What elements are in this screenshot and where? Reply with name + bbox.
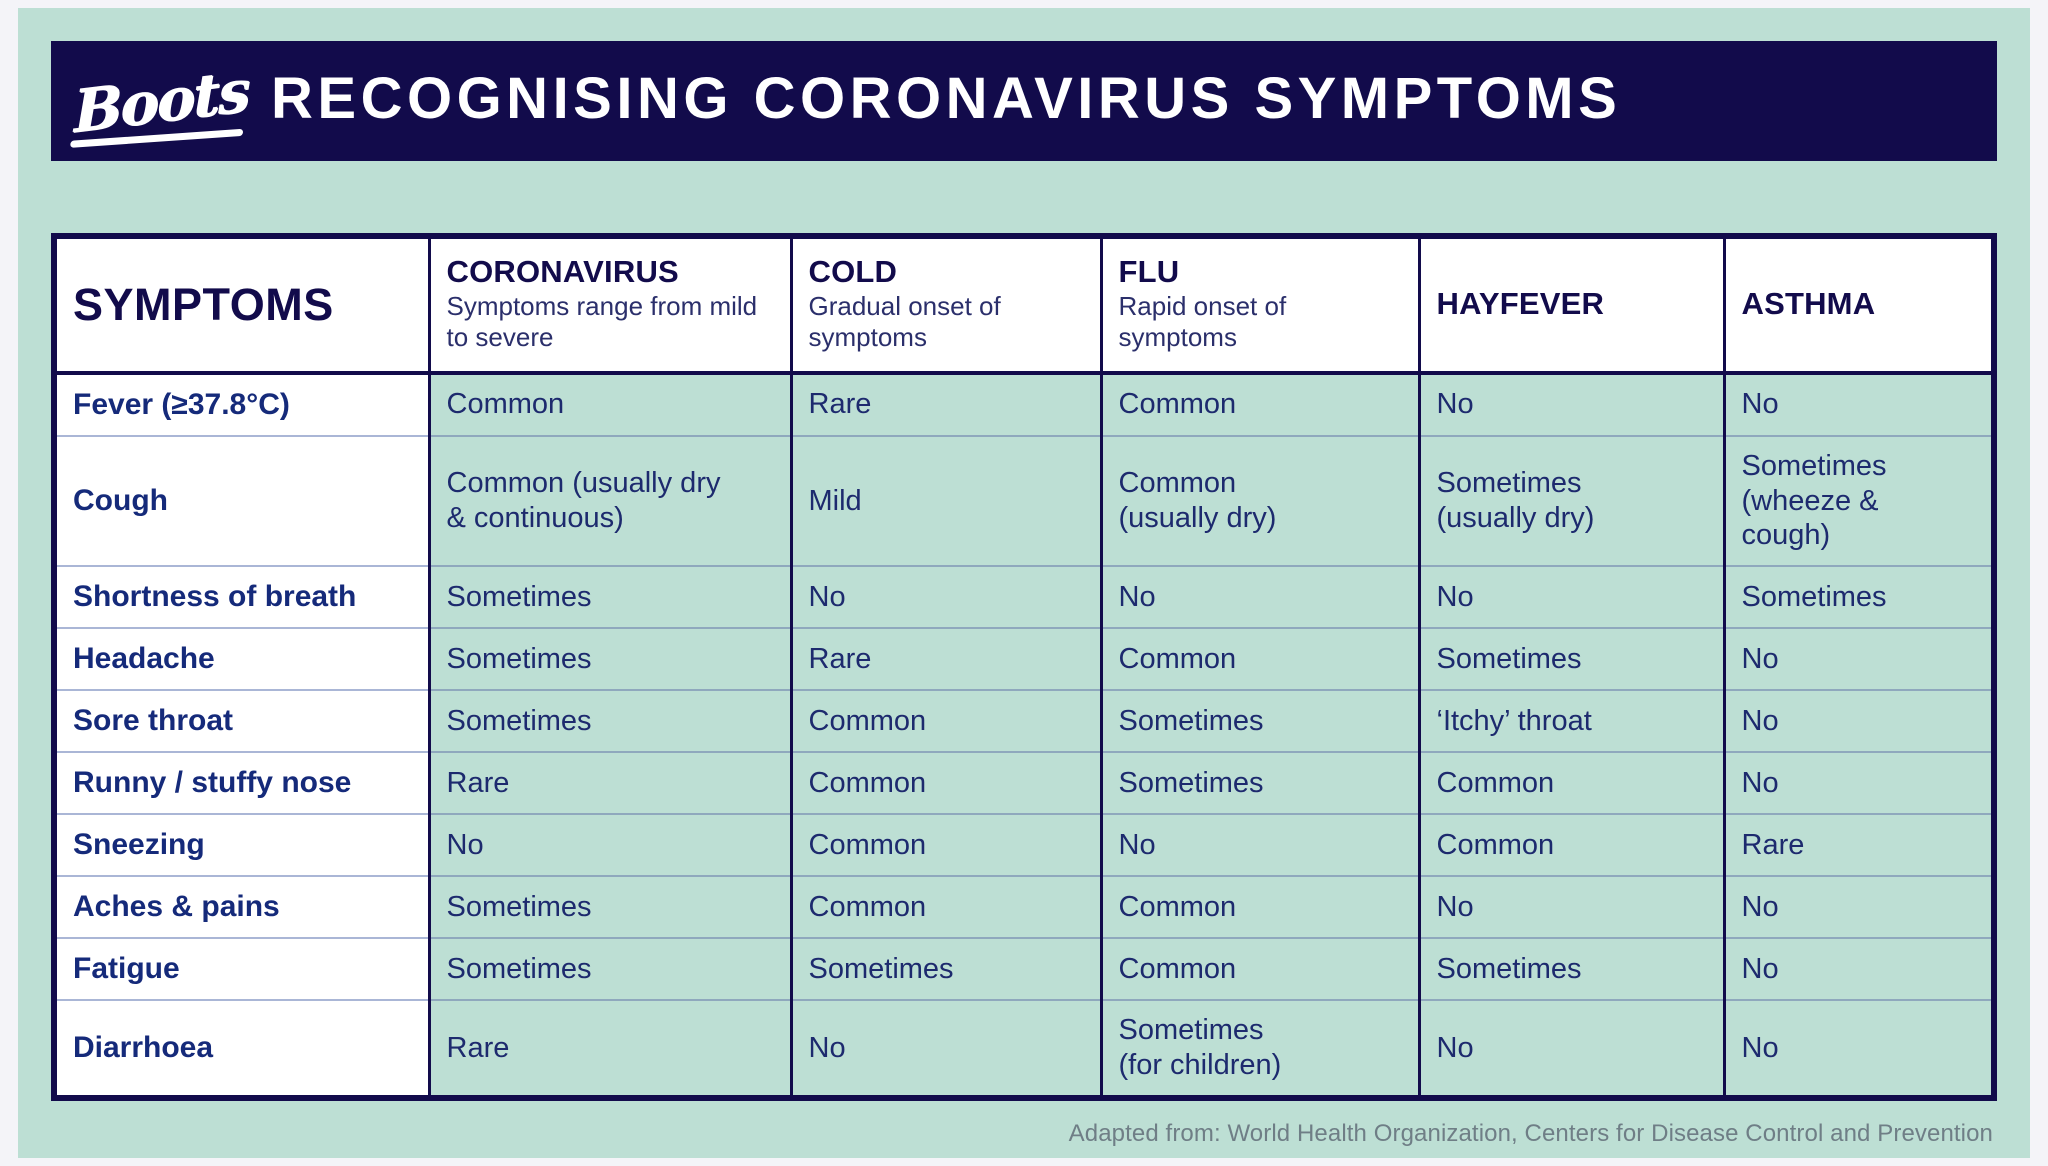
row-symptom-label: Headache — [57, 628, 429, 690]
cell-cold: Sometimes — [791, 938, 1101, 1000]
cell-text: No — [1437, 1032, 1474, 1064]
cell-asthma: Sometimes (wheeze & cough) — [1724, 436, 1991, 566]
cell-text: No — [1742, 705, 1779, 737]
cell-flu: Common (usually dry) — [1101, 436, 1419, 566]
column-header-symptoms: SYMPTOMS — [57, 239, 429, 373]
cell-flu: Common — [1101, 938, 1419, 1000]
cell-asthma: No — [1724, 690, 1991, 752]
cell-cold: Common — [791, 876, 1101, 938]
column-header-hayfever: HAYFEVER — [1419, 239, 1724, 373]
cell-text: Common — [809, 767, 927, 799]
table-row: Sneezing No Common No Common Rare — [57, 814, 1991, 876]
column-header-asthma: ASTHMA — [1724, 239, 1991, 373]
cell-text: No — [809, 1032, 846, 1064]
cell-text: Mild — [809, 485, 862, 517]
cell-hayfever: Common — [1419, 814, 1724, 876]
cell-text: No — [1119, 581, 1156, 613]
cell-text: Common — [1119, 467, 1237, 499]
cell-asthma: No — [1724, 752, 1991, 814]
table-header: SYMPTOMS CORONAVIRUS Symptoms range from… — [57, 239, 1991, 373]
boots-script-logo-icon: Boots — [51, 41, 271, 161]
cell-hayfever: Sometimes (usually dry) — [1419, 436, 1724, 566]
cell-text-line2: (wheeze & cough) — [1742, 484, 1976, 554]
column-header-flu-label: FLU — [1119, 255, 1402, 288]
row-symptom-label: Fatigue — [57, 938, 429, 1000]
cell-hayfever: No — [1419, 373, 1724, 436]
cell-text: Sometimes — [447, 953, 592, 985]
cell-hayfever: No — [1419, 876, 1724, 938]
cell-coronavirus: Common — [429, 373, 791, 436]
cell-asthma: No — [1724, 938, 1991, 1000]
cell-text: Common — [809, 891, 927, 923]
column-header-coronavirus-label: CORONAVIRUS — [447, 255, 774, 288]
cell-cold: Common — [791, 752, 1101, 814]
cell-text: No — [1742, 953, 1779, 985]
cell-text: Rare — [447, 767, 510, 799]
cell-text-line2: (usually dry) — [1119, 501, 1402, 536]
table-row: Fatigue Sometimes Sometimes Common Somet… — [57, 938, 1991, 1000]
cell-text: No — [1437, 581, 1474, 613]
cell-text: Sometimes — [1437, 953, 1582, 985]
cell-hayfever: ‘Itchy’ throat — [1419, 690, 1724, 752]
cell-flu: Sometimes — [1101, 690, 1419, 752]
cell-text: Common — [1437, 767, 1555, 799]
cell-text: Sometimes — [1119, 1014, 1264, 1046]
column-header-cold: COLD Gradual onset of symptoms — [791, 239, 1101, 373]
cell-asthma: No — [1724, 628, 1991, 690]
table-row: Diarrhoea Rare No Sometimes (for childre… — [57, 1000, 1991, 1095]
cell-cold: No — [791, 566, 1101, 628]
cell-text: No — [1437, 388, 1474, 420]
column-header-cold-subtitle: Gradual onset of symptoms — [809, 291, 1084, 352]
row-symptom-label: Fever (≥37.8°C) — [57, 373, 429, 436]
cell-cold: No — [791, 1000, 1101, 1095]
cell-text: Rare — [809, 388, 872, 420]
cell-coronavirus: Sometimes — [429, 628, 791, 690]
cell-asthma: No — [1724, 373, 1991, 436]
cell-text: Common — [1119, 891, 1237, 923]
table-body: Fever (≥37.8°C) Common Rare Common No No… — [57, 373, 1991, 1095]
cell-coronavirus: Rare — [429, 752, 791, 814]
cell-coronavirus: Sometimes — [429, 690, 791, 752]
cell-cold: Common — [791, 814, 1101, 876]
cell-text: Sometimes — [1742, 450, 1887, 482]
column-header-cold-label: COLD — [809, 255, 1084, 288]
cell-coronavirus: Sometimes — [429, 876, 791, 938]
column-header-hayfever-label: HAYFEVER — [1437, 287, 1707, 320]
cell-text: No — [1437, 891, 1474, 923]
cell-flu: No — [1101, 566, 1419, 628]
cell-hayfever: Common — [1419, 752, 1724, 814]
cell-text-line2: & continuous) — [447, 501, 774, 536]
cell-coronavirus: Sometimes — [429, 938, 791, 1000]
cell-text: Rare — [447, 1032, 510, 1064]
title-banner: Boots RECOGNISING CORONAVIRUS SYMPTOMS — [51, 41, 1997, 161]
cell-cold: Rare — [791, 373, 1101, 436]
cell-flu: No — [1101, 814, 1419, 876]
source-attribution: Adapted from: World Health Organization,… — [51, 1120, 1997, 1148]
cell-text: No — [1742, 643, 1779, 675]
cell-flu: Common — [1101, 628, 1419, 690]
cell-text-line2: (usually dry) — [1437, 501, 1707, 536]
cell-text: Sometimes — [447, 891, 592, 923]
cell-coronavirus: Common (usually dry & continuous) — [429, 436, 791, 566]
table-header-row: SYMPTOMS CORONAVIRUS Symptoms range from… — [57, 239, 1991, 373]
cell-flu: Common — [1101, 876, 1419, 938]
cell-text: Common — [1437, 829, 1555, 861]
cell-coronavirus: Sometimes — [429, 566, 791, 628]
cell-text: Rare — [1742, 829, 1805, 861]
cell-asthma: Sometimes — [1724, 566, 1991, 628]
cell-hayfever: No — [1419, 1000, 1724, 1095]
cell-coronavirus: No — [429, 814, 791, 876]
row-symptom-label: Cough — [57, 436, 429, 566]
cell-text: ‘Itchy’ throat — [1437, 705, 1592, 737]
table-row: Sore throat Sometimes Common Sometimes ‘… — [57, 690, 1991, 752]
cell-text: Sometimes — [1437, 467, 1582, 499]
page-title: RECOGNISING CORONAVIRUS SYMPTOMS — [271, 70, 1621, 132]
table-row: Shortness of breath Sometimes No No No S… — [57, 566, 1991, 628]
cell-text: Sometimes — [447, 581, 592, 613]
cell-hayfever: Sometimes — [1419, 938, 1724, 1000]
row-symptom-label: Shortness of breath — [57, 566, 429, 628]
table-row: Cough Common (usually dry & continuous) … — [57, 436, 1991, 566]
cell-hayfever: No — [1419, 566, 1724, 628]
cell-text: No — [1742, 388, 1779, 420]
table-row: Fever (≥37.8°C) Common Rare Common No No — [57, 373, 1991, 436]
brand-logo-text: Boots — [73, 56, 249, 146]
column-header-flu-subtitle: Rapid onset of symptoms — [1119, 291, 1402, 352]
cell-asthma: No — [1724, 876, 1991, 938]
cell-flu: Common — [1101, 373, 1419, 436]
cell-flu: Sometimes (for children) — [1101, 1000, 1419, 1095]
cell-text: No — [1742, 767, 1779, 799]
cell-hayfever: Sometimes — [1419, 628, 1724, 690]
cell-text: No — [447, 829, 484, 861]
row-symptom-label: Sore throat — [57, 690, 429, 752]
cell-text: Common — [1119, 388, 1237, 420]
cell-text: Common — [447, 388, 565, 420]
cell-text: Sometimes — [1119, 767, 1264, 799]
table-row: Aches & pains Sometimes Common Common No… — [57, 876, 1991, 938]
column-header-coronavirus: CORONAVIRUS Symptoms range from mild to … — [429, 239, 791, 373]
column-header-asthma-label: ASTHMA — [1742, 287, 1976, 320]
cell-text: Sometimes — [1119, 705, 1264, 737]
cell-text: Sometimes — [809, 953, 954, 985]
column-header-flu: FLU Rapid onset of symptoms — [1101, 239, 1419, 373]
row-symptom-label: Aches & pains — [57, 876, 429, 938]
cell-text: Sometimes — [1742, 581, 1887, 613]
cell-text-line2: (for children) — [1119, 1048, 1402, 1083]
poster-background: Boots RECOGNISING CORONAVIRUS SYMPTOMS S… — [18, 8, 2030, 1158]
cell-text: Sometimes — [447, 705, 592, 737]
cell-text: Common — [809, 829, 927, 861]
cell-text: Sometimes — [447, 643, 592, 675]
cell-text: No — [1742, 1032, 1779, 1064]
cell-text: No — [1119, 829, 1156, 861]
cell-asthma: No — [1724, 1000, 1991, 1095]
cell-flu: Sometimes — [1101, 752, 1419, 814]
table-row: Runny / stuffy nose Rare Common Sometime… — [57, 752, 1991, 814]
cell-text: Common — [809, 705, 927, 737]
row-symptom-label: Sneezing — [57, 814, 429, 876]
cell-text: Rare — [809, 643, 872, 675]
cell-text: Sometimes — [1437, 643, 1582, 675]
cell-text: No — [809, 581, 846, 613]
cell-cold: Common — [791, 690, 1101, 752]
cell-text: No — [1742, 891, 1779, 923]
cell-cold: Mild — [791, 436, 1101, 566]
symptoms-comparison-table: SYMPTOMS CORONAVIRUS Symptoms range from… — [57, 239, 1991, 1095]
cell-cold: Rare — [791, 628, 1101, 690]
symptoms-table-container: SYMPTOMS CORONAVIRUS Symptoms range from… — [51, 233, 1997, 1101]
table-row: Headache Sometimes Rare Common Sometimes… — [57, 628, 1991, 690]
column-header-coronavirus-subtitle: Symptoms range from mild to severe — [447, 291, 774, 352]
column-header-symptoms-label: SYMPTOMS — [73, 255, 412, 328]
cell-asthma: Rare — [1724, 814, 1991, 876]
cell-text: Common — [1119, 643, 1237, 675]
cell-coronavirus: Rare — [429, 1000, 791, 1095]
row-symptom-label: Runny / stuffy nose — [57, 752, 429, 814]
cell-text: Common (usually dry — [447, 467, 721, 499]
cell-text: Common — [1119, 953, 1237, 985]
row-symptom-label: Diarrhoea — [57, 1000, 429, 1095]
